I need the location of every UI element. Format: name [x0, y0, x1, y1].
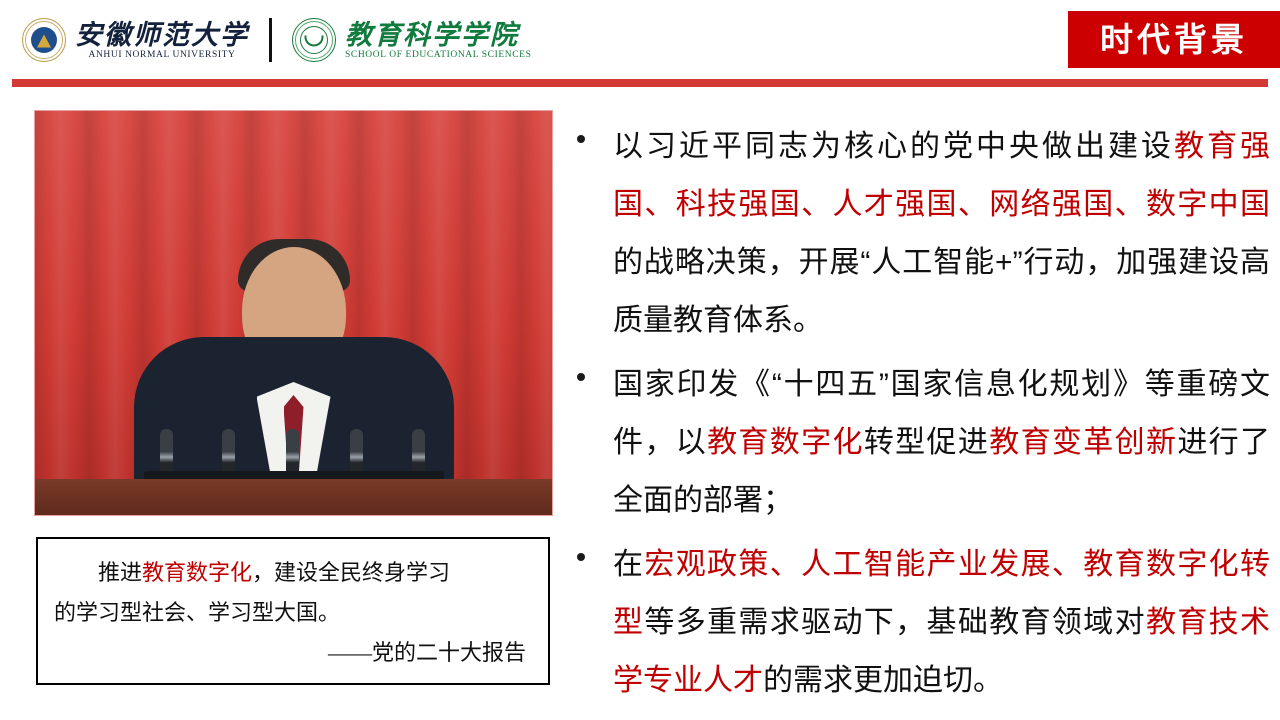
section-title-text: 时代背景 — [1100, 23, 1248, 56]
quote-attribution: ——党的二十大报告 — [54, 633, 532, 673]
bullet-text: 在宏观政策、人工智能产业发展、教育数字化转型等多重需求驱动下，基础教育领域对教育… — [613, 536, 1270, 710]
bullet-item: 在宏观政策、人工智能产业发展、教育数字化转型等多重需求驱动下，基础教育领域对教育… — [570, 536, 1270, 710]
logo-anu-english-name: ANHUI NORMAL UNIVERSITY — [75, 50, 249, 61]
plain-run: 的战略决策，开展“人工智能+”行动，加强建设高质量教育体系。 — [613, 246, 1270, 337]
plain-run: 以习近平同志为核心的党中央做出建设 — [613, 130, 1174, 163]
logo-anu-text: 安徽师范大学 ANHUI NORMAL UNIVERSITY — [75, 20, 249, 61]
bullet-list: 以习近平同志为核心的党中央做出建设教育强国、科技强国、人才强国、网络强国、数字中… — [570, 118, 1270, 716]
slide-header: 安徽师范大学 ANHUI NORMAL UNIVERSITY 教育科学学院 SC… — [0, 0, 1280, 96]
podium-desk — [35, 479, 552, 515]
quote-box: 推进教育数字化，建设全民终身学习 的学习型社会、学习型大国。 ——党的二十大报告 — [36, 537, 550, 685]
bullet-text: 以习近平同志为核心的党中央做出建设教育强国、科技强国、人才强国、网络强国、数字中… — [613, 118, 1270, 350]
highlighted-run: 教育变革创新 — [989, 426, 1177, 459]
quote-line1-suffix: ，建设全民终身学习 — [252, 560, 450, 585]
bullet-text: 国家印发《“十四五”国家信息化规划》等重磅文件，以教育数字化转型促进教育变革创新… — [613, 356, 1270, 530]
quote-line1-prefix: 推进 — [98, 560, 142, 585]
seal-ring — [25, 21, 63, 59]
logo-anhui-normal-university: 安徽师范大学 ANHUI NORMAL UNIVERSITY — [22, 18, 249, 62]
bullet-item: 以习近平同志为核心的党中央做出建设教育强国、科技强国、人才强国、网络强国、数字中… — [570, 118, 1270, 350]
header-divider-rule — [12, 79, 1268, 87]
speech-photo — [34, 110, 553, 516]
bullet-dot-icon — [577, 553, 585, 561]
school-of-educational-sciences-seal-icon — [292, 18, 336, 62]
plain-run: 的需求更加迫切。 — [763, 664, 1003, 697]
quote-line1-highlight: 教育数字化 — [142, 560, 252, 585]
logo-ses-english-name: SCHOOL OF EDUCATIONAL SCIENCES — [345, 50, 531, 61]
anhui-normal-university-seal-icon — [22, 18, 66, 62]
section-title-banner: 时代背景 — [1068, 11, 1280, 68]
bullet-dot-icon — [577, 135, 585, 143]
logo-ses-text: 教育科学学院 SCHOOL OF EDUCATIONAL SCIENCES — [345, 20, 531, 61]
highlighted-run: 教育数字化 — [707, 426, 864, 459]
logo-school-of-educational-sciences: 教育科学学院 SCHOOL OF EDUCATIONAL SCIENCES — [292, 18, 531, 62]
quote-line-1: 推进教育数字化，建设全民终身学习 — [54, 553, 532, 593]
logo-ses-chinese-name: 教育科学学院 — [345, 20, 531, 50]
bullet-item: 国家印发《“十四五”国家信息化规划》等重磅文件，以教育数字化转型促进教育变革创新… — [570, 356, 1270, 530]
quote-line-2: 的学习型社会、学习型大国。 — [54, 593, 532, 633]
logo-anu-chinese-name: 安徽师范大学 — [75, 20, 249, 50]
plain-run: 转型促进 — [864, 426, 989, 459]
seal-ring — [295, 21, 333, 59]
plain-run: 等多重需求驱动下，基础教育领域对 — [644, 606, 1146, 639]
logo-group: 安徽师范大学 ANHUI NORMAL UNIVERSITY 教育科学学院 SC… — [22, 12, 531, 68]
bullet-dot-icon — [577, 373, 585, 381]
plain-run: 在 — [613, 548, 644, 581]
logo-separator — [269, 18, 272, 62]
